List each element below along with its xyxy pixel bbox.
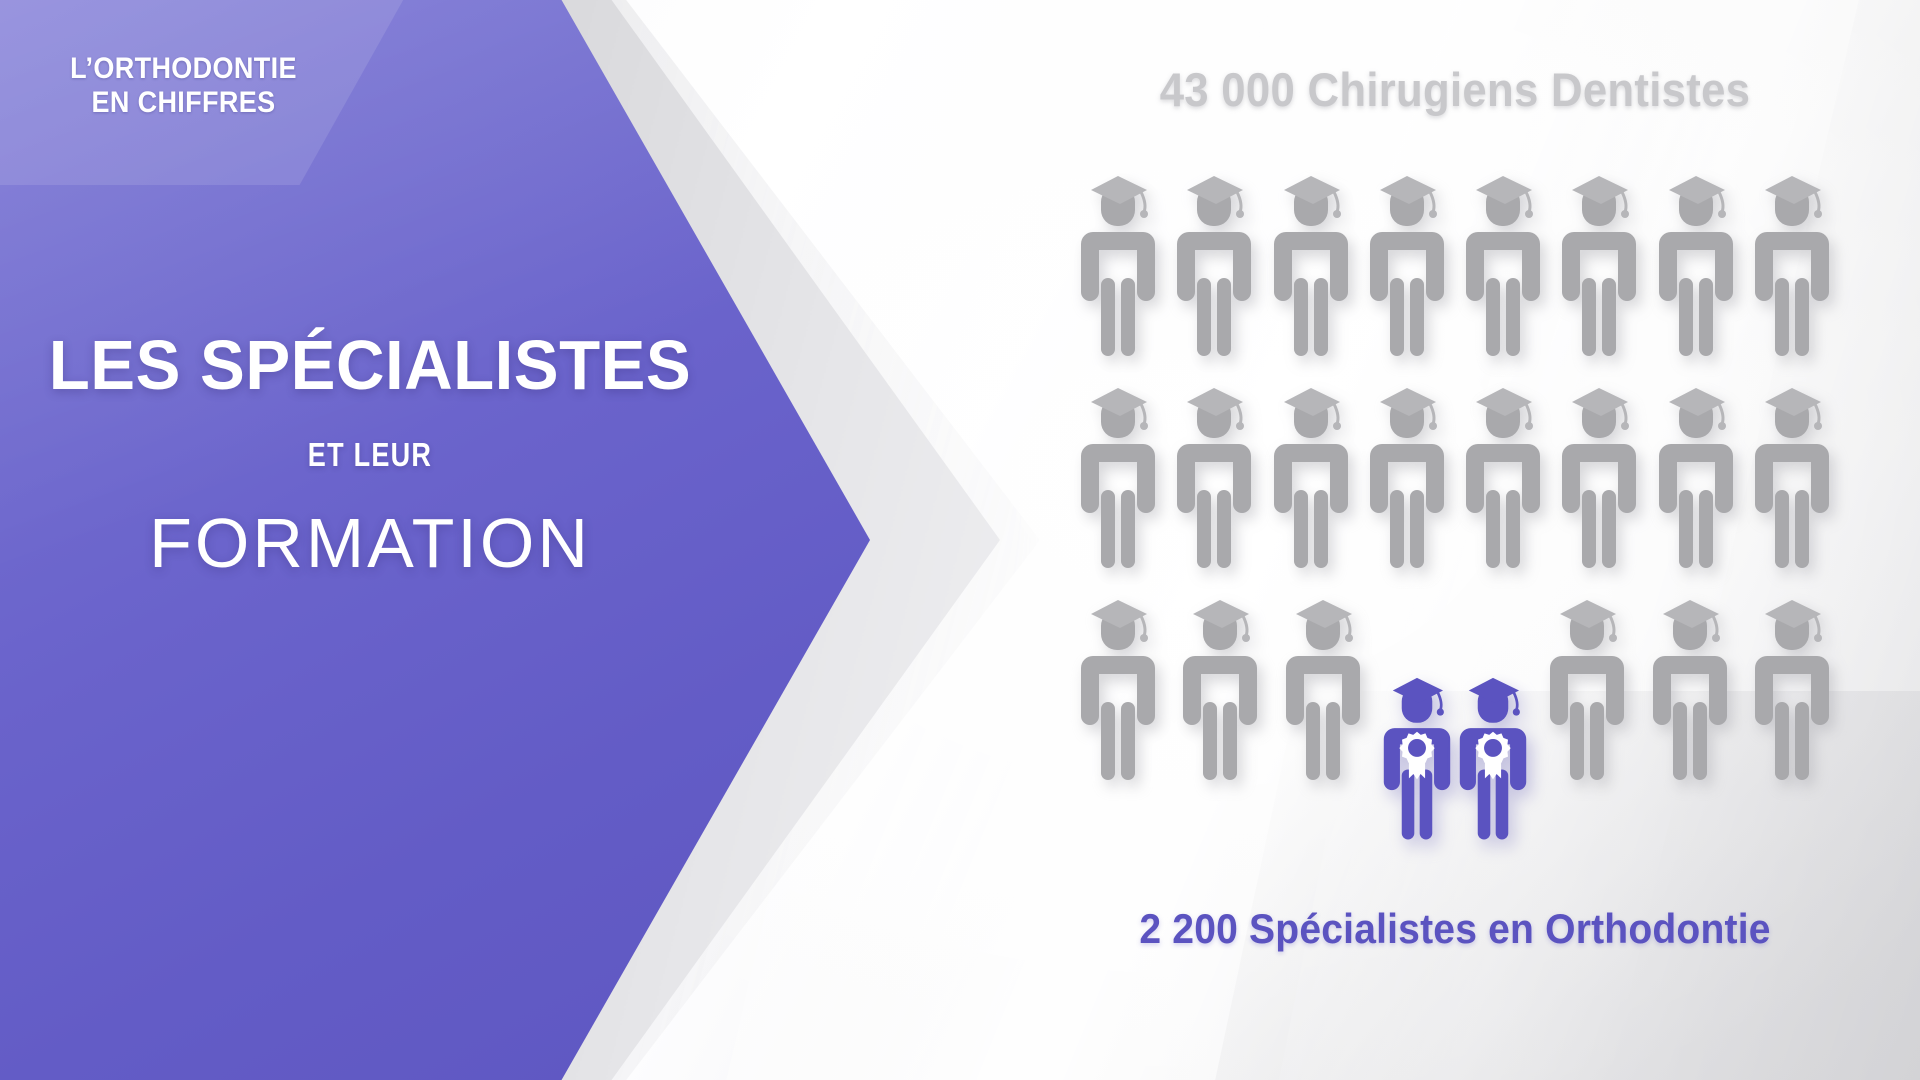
- pictogram-slot: [1364, 168, 1450, 358]
- graduate-person-icon: [1181, 592, 1259, 782]
- pictogram-slot: [1460, 380, 1546, 570]
- page-title: LES SPÉCIALISTES: [34, 330, 706, 400]
- graduate-person-icon: [1284, 592, 1362, 782]
- header-badge-line-1: L’ORTHODONTIE: [44, 52, 323, 86]
- graduate-person-icon: [1464, 168, 1542, 358]
- pictogram-rows: [1050, 168, 1860, 804]
- graduate-person-with-award-icon: [1458, 670, 1528, 842]
- graduate-person-with-award-icon: [1382, 670, 1452, 842]
- graduate-person-icon: [1079, 168, 1157, 358]
- pictogram-slot: [1177, 592, 1263, 782]
- header-badge-line-2: EN CHIFFRES: [44, 86, 323, 120]
- pictogram-slot: [1647, 592, 1733, 782]
- pictogram-slot: [1268, 168, 1354, 358]
- graduate-person-icon: [1560, 380, 1638, 570]
- pictogram-row: [1075, 168, 1835, 368]
- chart-caption: 2 200 Spécialistes en Orthodontie: [1078, 905, 1831, 953]
- graduate-person-icon: [1753, 380, 1831, 570]
- pictogram-slot: [1268, 380, 1354, 570]
- header-badge: L’ORTHODONTIE EN CHIFFRES: [44, 52, 323, 120]
- page-subtitle: ET LEUR: [83, 436, 657, 474]
- pictogram-slot: [1280, 592, 1366, 782]
- pictogram-slot: [1460, 168, 1546, 358]
- graduate-person-icon: [1753, 592, 1831, 782]
- graduate-person-icon: [1464, 380, 1542, 570]
- pictogram-slot: [1653, 168, 1739, 358]
- pictogram-row-highlight: [1075, 592, 1835, 792]
- pictogram-slot: [1171, 168, 1257, 358]
- pictogram-slot: [1653, 380, 1739, 570]
- pictogram-slot: [1075, 168, 1161, 358]
- pictogram-slot: [1075, 592, 1161, 782]
- specialist-group: [1382, 670, 1528, 842]
- pictogram-chart: 43 000 Chirugiens Dentistes: [1050, 0, 1920, 1080]
- pictogram-slot: [1749, 592, 1835, 782]
- graduate-person-icon: [1175, 168, 1253, 358]
- graduate-person-icon: [1079, 592, 1157, 782]
- graduate-person-icon: [1272, 380, 1350, 570]
- pictogram-row: [1075, 380, 1835, 580]
- graduate-person-icon: [1753, 168, 1831, 358]
- graduate-person-icon: [1560, 168, 1638, 358]
- pictogram-slot: [1749, 168, 1835, 358]
- pictogram-slot: [1749, 380, 1835, 570]
- pictogram-slot: [1544, 592, 1630, 782]
- graduate-person-icon: [1368, 380, 1446, 570]
- graduate-person-icon: [1368, 168, 1446, 358]
- graduate-person-icon: [1175, 380, 1253, 570]
- graduate-person-icon: [1548, 592, 1626, 782]
- pictogram-slot: [1075, 380, 1161, 570]
- graduate-person-icon: [1079, 380, 1157, 570]
- title-block: LES SPÉCIALISTES ET LEUR FORMATION: [20, 330, 720, 578]
- page-title-emphasis: FORMATION: [20, 508, 720, 578]
- graduate-person-icon: [1651, 592, 1729, 782]
- pictogram-slot: [1171, 380, 1257, 570]
- chart-title: 43 000 Chirugiens Dentistes: [1078, 62, 1831, 117]
- pictogram-slot: [1556, 168, 1642, 358]
- graduate-person-icon: [1272, 168, 1350, 358]
- pictogram-slot: [1556, 380, 1642, 570]
- graduate-person-icon: [1657, 380, 1735, 570]
- infographic-slide: L’ORTHODONTIE EN CHIFFRES LES SPÉCIALIST…: [0, 0, 1920, 1080]
- graduate-person-icon: [1657, 168, 1735, 358]
- pictogram-slot: [1364, 380, 1450, 570]
